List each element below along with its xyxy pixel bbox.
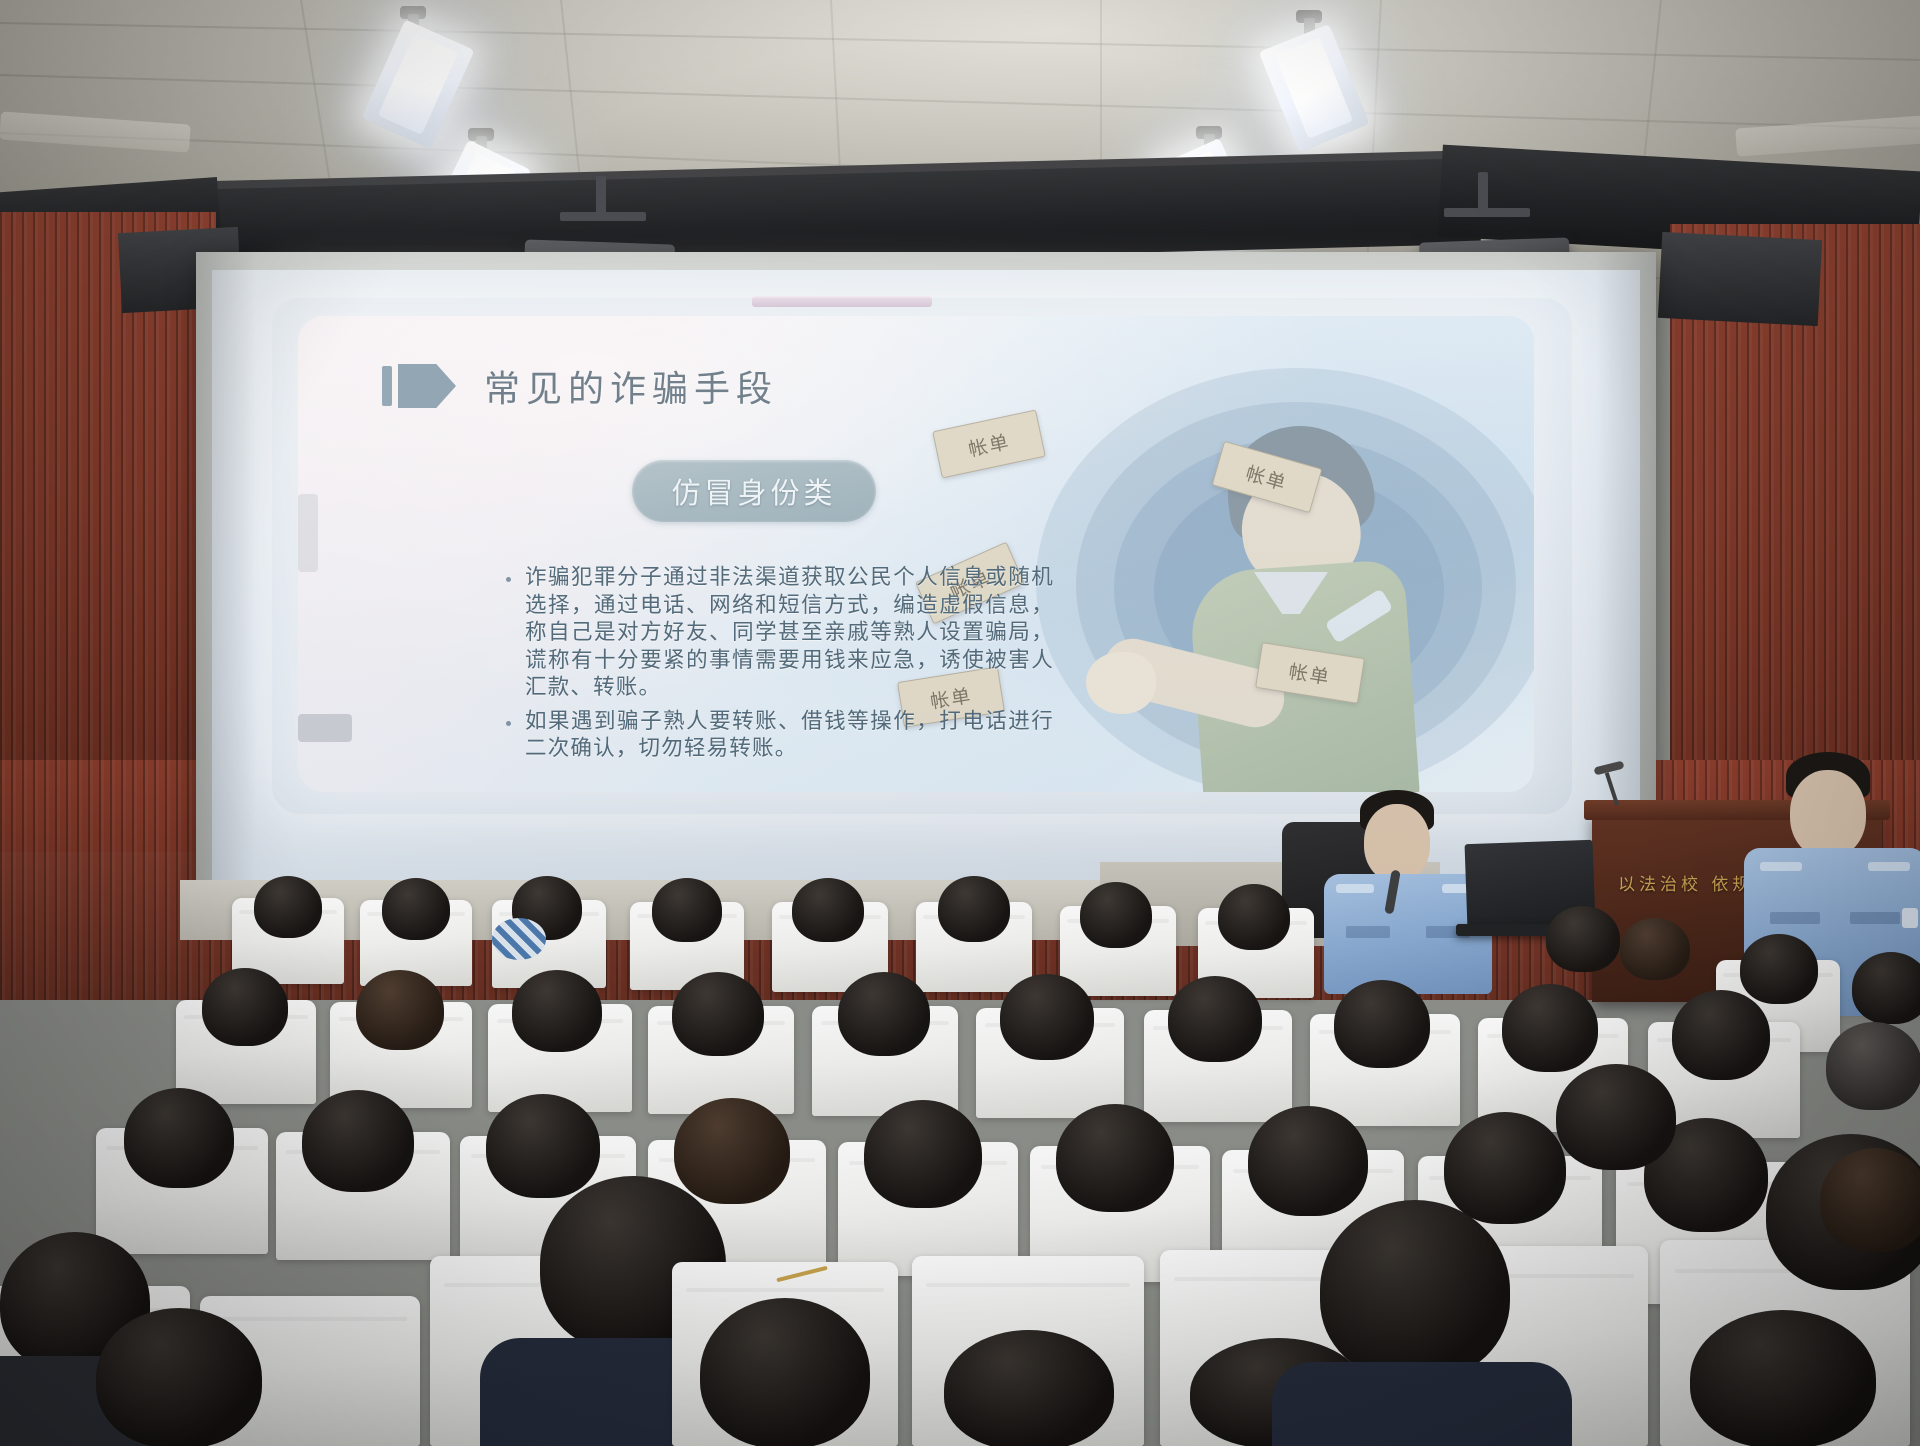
audience-head (1248, 1106, 1368, 1216)
officer-head (1790, 770, 1866, 858)
audience-head (1334, 980, 1430, 1068)
audience-head (674, 1098, 790, 1204)
audience-head (1218, 884, 1290, 950)
audience-head (302, 1090, 414, 1192)
slide-bullet-text: 如果遇到骗子熟人要转账、借钱等操作，打电话进行二次确认，切勿轻易转账。 (525, 708, 1054, 763)
slide-corner-tab (298, 714, 352, 742)
slide-corner-tab (298, 494, 318, 572)
audience-head (486, 1094, 600, 1198)
bill-note-label: 帐单 (966, 426, 1013, 461)
audience-head (652, 878, 722, 942)
slide: 帐单 帐单 帐单 帐单 帐单 (298, 316, 1534, 792)
audience-head (254, 876, 322, 938)
audience-head (792, 878, 864, 942)
person-hand (1086, 652, 1156, 714)
bullet-dot-icon (506, 721, 511, 726)
slide-bullet-text: 诈骗犯罪分子通过非法渠道获取公民个人信息或随机选择，通过电话、网络和短信方式，编… (525, 564, 1054, 702)
audience-head (1320, 1200, 1510, 1380)
slide-title-row: 常见的诈骗手段 (382, 360, 778, 412)
bill-note: 帐单 (932, 410, 1046, 479)
speaker-pocket (1346, 926, 1390, 938)
screen-light-rail (752, 296, 932, 307)
audience-head (864, 1100, 982, 1208)
slide-bullet-item: 诈骗犯罪分子通过非法渠道获取公民个人信息或随机选择，通过电话、网络和短信方式，编… (506, 564, 1054, 702)
audience-head (838, 972, 930, 1056)
audience-head (124, 1088, 234, 1188)
bullet-dot-icon (506, 577, 511, 582)
officer-pocket (1850, 912, 1900, 924)
audience-head (382, 878, 450, 940)
audience-head (356, 970, 444, 1050)
slide-category-badge-label: 仿冒身份类 (671, 470, 836, 512)
audience-head (1820, 1148, 1920, 1252)
officer-shoulder-badge (1902, 908, 1918, 928)
speaker-epaulette (1336, 884, 1374, 893)
audience-head (1690, 1310, 1876, 1446)
audience-head (1000, 974, 1094, 1060)
audience-head (944, 1330, 1114, 1446)
slide-title: 常见的诈骗手段 (484, 360, 778, 412)
officer-pocket (1770, 912, 1820, 924)
lecture-hall-photo: 帐单 帐单 帐单 帐单 帐单 (0, 0, 1920, 1446)
audience-shoulders (1272, 1362, 1572, 1446)
projector-mount (1444, 208, 1530, 217)
audience-head (1168, 976, 1262, 1062)
slide-bullet-item: 如果遇到骗子熟人要转账、借钱等操作，打电话进行二次确认，切勿轻易转账。 (506, 708, 1054, 763)
audience-head (1620, 918, 1690, 980)
audience-head (1056, 1104, 1174, 1212)
slide-bullet-list: 诈骗犯罪分子通过非法渠道获取公民个人信息或随机选择，通过电话、网络和短信方式，编… (506, 564, 1054, 769)
audience-head (672, 972, 764, 1056)
officer-epaulette (1868, 862, 1910, 871)
officer-epaulette (1760, 862, 1802, 871)
projector-mount (560, 212, 646, 221)
slide-category-badge: 仿冒身份类 (632, 460, 876, 522)
bill-note-label: 帐单 (1243, 458, 1291, 496)
bill-note-label: 帐单 (1287, 656, 1333, 689)
audience-head (1080, 882, 1152, 948)
audience-head (1444, 1112, 1566, 1224)
audience-head (700, 1298, 870, 1446)
audience-head (512, 970, 602, 1052)
audience-head (1740, 934, 1818, 1004)
audience-head (1502, 984, 1598, 1072)
audience-head (96, 1308, 262, 1446)
screen-edge-shadow (196, 252, 256, 900)
audience-head (1546, 906, 1620, 972)
audience-head (1826, 1022, 1920, 1110)
audience-head (1852, 952, 1920, 1024)
audience-head-scarf (492, 918, 546, 960)
wall-shadow (1658, 232, 1822, 326)
audience-head (1556, 1064, 1676, 1170)
arrow-marker-icon (382, 364, 456, 408)
audience-head (1672, 990, 1770, 1080)
audience-head (202, 968, 288, 1046)
audience-head (938, 876, 1010, 942)
